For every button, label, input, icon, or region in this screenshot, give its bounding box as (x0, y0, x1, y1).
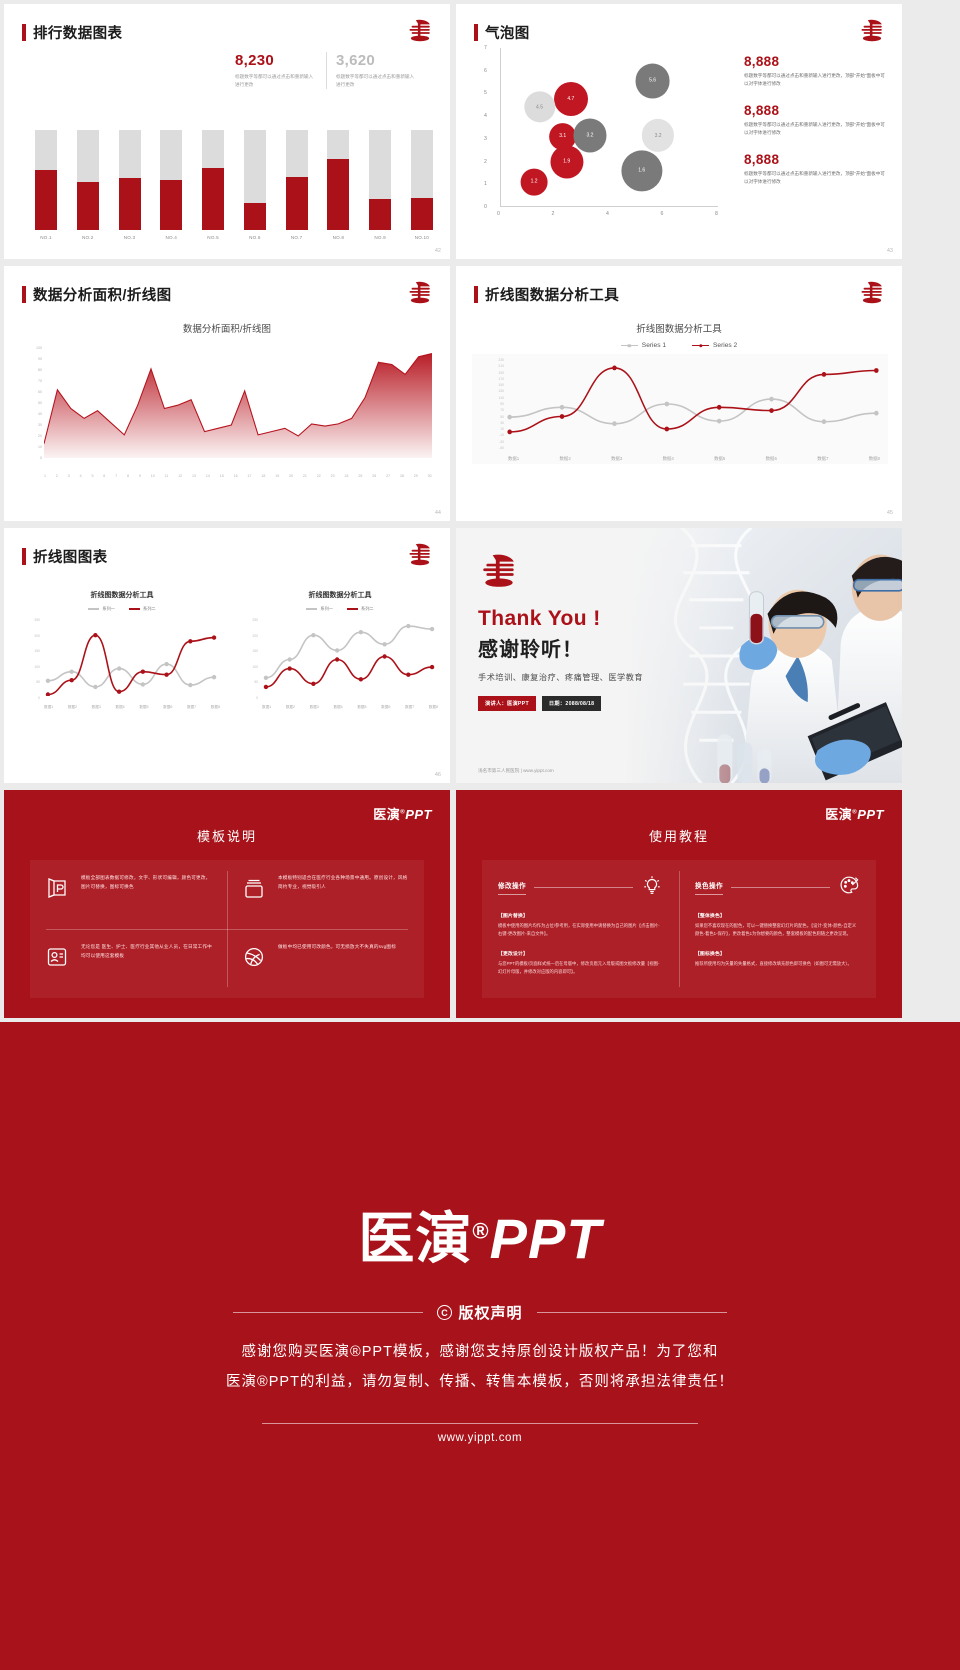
header-rule (731, 887, 830, 888)
mini-chart-title: 折线图数据分析工具 (22, 590, 222, 600)
y-tick: 0 (38, 696, 40, 700)
bar-track (286, 130, 308, 230)
slide-ranking-chart[interactable]: 排行数据图表 8,230 标题数字等都可以通过点击和重新输入进行更改 3,620… (4, 4, 450, 259)
y-tick: 100 (36, 346, 42, 350)
data-point (264, 676, 268, 680)
brand-logo-icon (858, 18, 886, 42)
x-tick: 20 (289, 474, 293, 478)
bubble-point: 3.2 (573, 119, 606, 152)
slide-bubble-chart[interactable]: 气泡图 01234567 02468 1.21.93.14.74.53.25.6… (456, 4, 902, 259)
data-point (665, 402, 670, 407)
copyright-body: 感谢您购买医演®PPT模板，感谢您支持原创设计版权产品！为了您和 医演®PPT的… (0, 1338, 960, 1397)
tutorial-panel: 修改操作 【图片替换】 模板中使用的图片均作为占位/参考用，在实际使用中请替换为… (482, 860, 876, 998)
x-category: 数据7 (405, 705, 414, 710)
data-point (188, 683, 192, 687)
brand-logo-icon (406, 18, 434, 42)
data-point (335, 648, 339, 652)
ranking-bar-chart: NO.1NO.2NO.3NO.4NO.5NO.6NO.7NO.8NO.9NO.1… (34, 122, 434, 240)
title-accent-bar (474, 24, 478, 41)
mini-chart-title: 折线图数据分析工具 (240, 590, 440, 600)
x-category: 数据7 (817, 456, 828, 462)
bar-label: NO.3 (124, 235, 136, 240)
bar-label: NO.6 (249, 235, 261, 240)
y-tick: 40 (38, 412, 42, 416)
bar-label: NO.2 (82, 235, 94, 240)
bubble-plot-area: 01234567 02468 1.21.93.14.74.53.25.63.21… (478, 48, 718, 223)
x-category: 数据4 (115, 705, 124, 710)
data-point (406, 624, 410, 628)
data-point (359, 630, 363, 634)
data-point (188, 639, 192, 643)
tutorial-block: 【图片替换】 模板中使用的图片均作为占位/参考用，在实际使用中请替换为自己的图片… (498, 912, 663, 939)
brand-cn: 医演 (373, 807, 400, 822)
data-point (46, 692, 50, 696)
y-tick: 100 (252, 665, 258, 669)
y-tick: 50 (38, 401, 42, 405)
x-category: 数据7 (187, 705, 196, 710)
note-item: 做板中均已使用可改颜色，可无损放大不失真的svg图标 (227, 929, 424, 998)
bubble-point: 5.6 (635, 63, 670, 98)
user-id-icon (44, 943, 70, 984)
copyright-bottom-rule (262, 1423, 698, 1424)
data-point (69, 670, 73, 674)
data-point (560, 405, 565, 410)
x-category: 数据2 (68, 705, 77, 710)
bubble-point: 4.5 (524, 91, 555, 122)
slide-title-lines: 折线图数据分析工具 (474, 284, 619, 305)
title-accent-bar (22, 548, 26, 565)
thank-you-text-block: Thank You ! 感谢聆听！ 手术培训、康复治疗、疼痛管理、医学教育 演讲… (478, 552, 737, 711)
y-tick: 20 (38, 434, 42, 438)
kpi-card-primary: 8,230 标题数字等都可以通过点击和重新输入进行更改 (226, 52, 326, 89)
data-point (335, 657, 339, 661)
copyright-url[interactable]: www.yippt.com (0, 1432, 960, 1444)
x-tick-labels: 1234567891011121314151617181920212223242… (44, 474, 432, 478)
block-body: 模板中使用的图片均作为占位/参考用，在实际使用中请替换为自己的图片【点击图片-右… (498, 922, 663, 939)
x-tick: 12 (178, 474, 182, 478)
y-tick: 30 (38, 423, 42, 427)
data-point (507, 415, 512, 420)
slide-title-ranking: 排行数据图表 (22, 22, 122, 43)
ppt-file-icon (44, 874, 70, 915)
copyright-icon: C (437, 1305, 452, 1320)
copyright-line-1: 感谢您购买医演®PPT模板，感谢您支持原创设计版权产品！为了您和 (0, 1338, 960, 1368)
x-category: 数据3 (92, 705, 101, 710)
x-category: 数据8 (429, 705, 438, 710)
x-category: 数据8 (869, 456, 880, 462)
brand-logo-icon (478, 552, 520, 588)
stat-desc: 标题数字等都可以通过点击和重新输入进行更改，顶部“开始”面板中可以对字体进行修改 (744, 121, 889, 138)
brand-ppt: PPT (490, 1207, 602, 1270)
bar-label: NO.10 (415, 235, 429, 240)
bubble-point: 1.6 (621, 150, 662, 191)
data-point (141, 670, 145, 674)
x-tick: 25 (358, 474, 362, 478)
block-title: 【图片替换】 (498, 912, 663, 919)
x-category: 数据4 (333, 705, 342, 710)
slide-template-notes[interactable]: 医演®PPT 模板说明 模板全部图表数据可修改，文字、形状可编辑，颜色可更改，图… (4, 790, 450, 1018)
bar-track (411, 130, 433, 230)
data-point (117, 690, 121, 694)
legend-item-series2: 系列二 (347, 606, 374, 612)
x-tick: 30 (428, 474, 432, 478)
y-tick-labels: 250200150100500 (240, 620, 258, 698)
data-point (665, 427, 670, 432)
data-point (382, 642, 386, 646)
bar-fill (77, 182, 99, 230)
x-tick: 13 (192, 474, 196, 478)
bar-track (160, 130, 182, 230)
mini-chart-left: 折线图数据分析工具 系列一 系列二 250200150100500 数据1数据2… (22, 590, 222, 740)
bar-label: NO.7 (291, 235, 303, 240)
legend-label: 系列二 (361, 606, 374, 612)
brand-logo-icon (858, 280, 886, 304)
legend-swatch (88, 608, 99, 609)
copyright-line-2: 医演®PPT的利益，请勿复制、传播、转售本模板，否则将承担法律责任！ (0, 1368, 960, 1398)
thank-you-tag-row: 演讲人：医演PPT 日期：2088/08/18 (478, 696, 737, 711)
x-tick: 22 (317, 474, 321, 478)
bubble-stat-item: 8,888 标题数字等都可以通过点击和重新输入进行更改，顶部“开始”面板中可以对… (744, 54, 889, 89)
x-category-labels: 数据1数据2数据3数据4数据5数据6数据7数据8 (262, 705, 438, 710)
bar-column: NO.9 (368, 130, 392, 240)
brand-wordmark: 医演®PPT (373, 804, 432, 823)
y-tick: 60 (38, 390, 42, 394)
bar-column: NO.7 (285, 130, 309, 240)
x-tick: 1 (44, 474, 46, 478)
column-heading: 修改操作 (498, 880, 526, 895)
lightbulb-icon (641, 874, 663, 901)
page-number: 42 (435, 248, 441, 254)
data-point (212, 635, 216, 639)
page-number: 45 (887, 510, 893, 516)
kpi-group: 8,230 标题数字等都可以通过点击和重新输入进行更改 3,620 标题数字等都… (226, 52, 426, 89)
thank-you-canvas: Thank You ! 感谢聆听！ 手术培训、康复治疗、疼痛管理、医学教育 演讲… (456, 528, 902, 783)
bar-fill (119, 178, 141, 230)
section-title: 模板说明 (4, 826, 450, 845)
area-series (44, 348, 432, 458)
stat-value: 8,888 (744, 54, 889, 69)
x-category: 数据6 (766, 456, 777, 462)
column-header: 换色操作 (695, 874, 860, 901)
x-tick: 14 (206, 474, 210, 478)
data-point (359, 677, 363, 681)
legend-item-series2: 系列二 (129, 606, 156, 612)
x-category: 数据1 (262, 705, 271, 710)
bar-fill (244, 203, 266, 230)
x-tick: 11 (165, 474, 169, 478)
y-tick-labels: 250200150100500 (22, 620, 40, 698)
legend-swatch (306, 608, 317, 609)
note-item: 无论您是 医生、护士、医疗行业其他从业人员，在日常工作中均可以使用这套模板 (30, 929, 227, 998)
x-tick: 16 (234, 474, 238, 478)
x-tick: 6 (103, 474, 105, 478)
x-category: 数据1 (508, 456, 519, 462)
bar-fill (202, 168, 224, 230)
kpi-desc: 标题数字等都可以通过点击和重新输入进行更改 (235, 73, 317, 89)
chart-title: 数据分析面积/折线图 (4, 321, 450, 335)
bar-label: NO.1 (40, 235, 52, 240)
data-point (311, 633, 315, 637)
mini-line-series (260, 620, 438, 696)
note-text: 本模板特别适合在医疗行业各种场景中通用。原创设计，风格简约专业，视觉吸引人 (278, 874, 410, 915)
note-text: 无论您是 医生、护士、医疗行业其他从业人员，在日常工作中均可以使用这套模板 (81, 943, 213, 984)
data-point (311, 682, 315, 686)
x-tick: 7 (115, 474, 117, 478)
x-tick: 2 (56, 474, 58, 478)
slide-thank-you[interactable]: Thank You ! 感谢聆听！ 手术培训、康复治疗、疼痛管理、医学教育 演讲… (456, 528, 902, 783)
data-point (212, 675, 216, 679)
y-tick: 0 (256, 696, 258, 700)
statement-text: 版权声明 (458, 1302, 522, 1323)
x-tick: 8 (127, 474, 129, 478)
block-title: 【整体换色】 (695, 912, 860, 919)
data-point (164, 673, 168, 677)
legend-item-series1: 系列一 (88, 606, 115, 612)
mini-legend: 系列一 系列二 (240, 606, 440, 612)
data-point (430, 665, 434, 669)
page-number: 43 (887, 248, 893, 254)
block-body: 推荐所使用均为矢量的失量格式，直接修改填充颜色即可换色（如图可无需放大）。 (695, 960, 860, 968)
section-title: 使用教程 (456, 826, 902, 845)
note-text: 做板中均已使用可改颜色，可无损放大不失真的svg图标 (278, 943, 396, 984)
stat-desc: 标题数字等都可以通过点击和重新输入进行更改，顶部“开始”面板中可以对字体进行修改 (744, 72, 889, 89)
brand-logo-icon (406, 280, 434, 304)
data-point (264, 685, 268, 689)
page-number: 46 (435, 772, 441, 778)
mini-chart-right: 折线图数据分析工具 系列一 系列二 250200150100500 数据1数据2… (240, 590, 440, 740)
copyright-divider: C 版权声明 (0, 1302, 960, 1323)
slide-mini-line-charts[interactable]: 折线图图表 折线图数据分析工具 系列一 系列二 (4, 528, 450, 783)
copyright-statement-label: C 版权声明 (437, 1302, 522, 1323)
block-title: 【图标换色】 (695, 950, 860, 957)
divider-line-left (233, 1312, 423, 1313)
data-point (874, 368, 879, 373)
data-point (287, 666, 291, 670)
brand-cn: 医演 (358, 1207, 472, 1270)
bar-track (119, 130, 141, 230)
bar-fill (286, 177, 308, 230)
thank-you-headline-en: Thank You ! (478, 607, 737, 631)
legend-swatch (347, 608, 358, 609)
bubble-point: 1.2 (521, 169, 548, 196)
x-tick: 23 (331, 474, 335, 478)
y-tick: 10 (38, 445, 42, 449)
x-category: 数据3 (611, 456, 622, 462)
x-tick: 27 (386, 474, 390, 478)
slide-title-area: 数据分析面积/折线图 (22, 284, 172, 305)
title-accent-bar (22, 286, 26, 303)
x-category: 数据5 (357, 705, 366, 710)
bar-column: NO.1 (34, 130, 58, 240)
x-tick: 26 (372, 474, 376, 478)
bar-label: NO.5 (207, 235, 219, 240)
bar-column: NO.6 (243, 130, 267, 240)
y-tick: 50 (36, 680, 40, 684)
data-point (507, 430, 512, 435)
bar-column: NO.5 (201, 130, 225, 240)
box-icon (241, 874, 267, 915)
x-category: 数据5 (139, 705, 148, 710)
y-tick: 250 (252, 618, 258, 622)
kpi-desc: 标题数字等都可以通过点击和重新输入进行更改 (336, 73, 417, 89)
x-tick: 19 (275, 474, 279, 478)
bar-fill (160, 180, 182, 230)
bar-track (35, 130, 57, 230)
tutorial-column-recolor: 换色操作 【整体换色】 如果您不喜欢现在的配色，可以一键替换整套幻灯片的配色。【… (679, 860, 876, 998)
bar-label: NO.4 (166, 235, 178, 240)
data-point (612, 366, 617, 371)
kpi-value: 3,620 (336, 52, 417, 69)
mini-plot: 250200150100500 数据1数据2数据3数据4数据5数据6数据7数据8 (240, 616, 440, 712)
note-item: 本模板特别适合在医疗行业各种场景中通用。原创设计，风格简约专业，视觉吸引人 (227, 860, 424, 929)
notes-panel: 模板全部图表数据可修改，文字、形状可编辑，颜色可更改，图片可替换，图标可换色 本… (30, 860, 424, 998)
line-plot: 2302101901701501301109070503010-10-30-50… (472, 354, 888, 464)
data-point (560, 414, 565, 419)
bar-track (327, 130, 349, 230)
y-tick: 70 (38, 379, 42, 383)
chart-legend: Series 1 Series 2 (456, 342, 902, 349)
data-point (430, 627, 434, 631)
brand-wordmark-large: 医演®PPT (0, 1194, 960, 1275)
area-plot: 0102030405060708090100 12345678910111213… (26, 348, 432, 478)
legend-swatch (692, 345, 709, 347)
speaker-tag: 演讲人：医演PPT (478, 696, 536, 711)
x-tick: 10 (151, 474, 155, 478)
x-category: 数据2 (560, 456, 571, 462)
y-tick-labels: 0102030405060708090100 (26, 348, 42, 458)
bar-column: NO.8 (326, 130, 350, 240)
slide-tutorial[interactable]: 医演®PPT 使用教程 修改操作 【图片替换】 (456, 790, 902, 1018)
legend-label: 系列一 (102, 606, 115, 612)
bar-column: NO.4 (159, 130, 183, 240)
data-point (717, 419, 722, 424)
brand-cn: 医演 (825, 807, 852, 822)
header-rule (534, 887, 633, 888)
y-tick: 0 (40, 456, 42, 460)
x-tick: 5 (91, 474, 93, 478)
note-text: 模板全部图表数据可修改，文字、形状可编辑，颜色可更改，图片可替换，图标可换色 (81, 874, 213, 915)
legend-label: 系列二 (143, 606, 156, 612)
x-tick: 29 (414, 474, 418, 478)
x-tick: 9 (139, 474, 141, 478)
mini-legend: 系列一 系列二 (22, 606, 222, 612)
slide-line-chart-tool[interactable]: 折线图数据分析工具 折线图数据分析工具 Series 1 Series 2 23… (456, 266, 902, 521)
data-point (93, 633, 97, 637)
data-point (612, 421, 617, 426)
bubble-stat-item: 8,888 标题数字等都可以通过点击和重新输入进行更改，顶部“开始”面板中可以对… (744, 152, 889, 187)
y-tick: 100 (34, 665, 40, 669)
x-tick: 3 (68, 474, 70, 478)
bubble-stat-item: 8,888 标题数字等都可以通过点击和重新输入进行更改，顶部“开始”面板中可以对… (744, 103, 889, 138)
chart-title: 折线图数据分析工具 (456, 321, 902, 335)
tutorial-block: 【图标换色】 推荐所使用均为矢量的失量格式，直接修改填充颜色即可换色（如图可无需… (695, 950, 860, 968)
y-tick: 150 (34, 649, 40, 653)
y-tick: 200 (252, 634, 258, 638)
x-category: 数据6 (381, 705, 390, 710)
brand-wordmark: 医演®PPT (825, 804, 884, 823)
stat-value: 8,888 (744, 103, 889, 118)
data-point (46, 679, 50, 683)
note-item: 模板全部图表数据可修改，文字、形状可编辑，颜色可更改，图片可替换，图标可换色 (30, 860, 227, 929)
bar-label: NO.8 (333, 235, 345, 240)
bar-track (244, 130, 266, 230)
x-tick: 28 (400, 474, 404, 478)
x-category: 数据1 (44, 705, 53, 710)
slide-title-bubble: 气泡图 (474, 22, 530, 43)
bar-column: NO.3 (118, 130, 142, 240)
data-point (141, 682, 145, 686)
y-tick: 90 (38, 357, 42, 361)
legend-label: Series 2 (713, 342, 737, 349)
title-accent-bar (474, 286, 478, 303)
block-body: 与您PPT的模板/页面样式统一后在母版中，修改页眉元入母版或图文板修改量【视图-… (498, 960, 663, 977)
data-point (769, 408, 774, 413)
block-body: 如果您不喜欢现在的配色，可以一键替换整套幻灯片的配色。【设计-变体-颜色-自定义… (695, 922, 860, 939)
page-number: 44 (435, 510, 441, 516)
data-point (406, 673, 410, 677)
legend-item-series1: Series 1 (621, 342, 666, 349)
data-point (874, 411, 879, 416)
x-category: 数据2 (286, 705, 295, 710)
y-tick: 50 (254, 680, 258, 684)
y-tick: 80 (38, 368, 42, 372)
bar-column: NO.2 (76, 130, 100, 240)
bar-track (202, 130, 224, 230)
legend-item-series2: Series 2 (692, 342, 737, 349)
x-tick: 4 (80, 474, 82, 478)
tutorial-column-edit: 修改操作 【图片替换】 模板中使用的图片均作为占位/参考用，在实际使用中请替换为… (482, 860, 679, 998)
legend-swatch (129, 608, 140, 609)
mini-plot: 250200150100500 数据1数据2数据3数据4数据5数据6数据7数据8 (22, 616, 222, 712)
x-tick: 15 (220, 474, 224, 478)
divider-line-right (537, 1312, 727, 1313)
area-fill (44, 354, 432, 459)
palette-icon (838, 874, 860, 901)
bubble-point: 3.1 (549, 123, 577, 151)
x-category: 数据8 (211, 705, 220, 710)
legend-label: 系列一 (320, 606, 333, 612)
x-tick: 21 (303, 474, 307, 478)
data-point (769, 397, 774, 402)
column-header: 修改操作 (498, 874, 663, 901)
legend-item-series1: 系列一 (306, 606, 333, 612)
y-tick: 250 (34, 618, 40, 622)
block-title: 【更改设计】 (498, 950, 663, 957)
kpi-card-secondary: 3,620 标题数字等都可以通过点击和重新输入进行更改 (326, 52, 426, 89)
slide-deck-overview: 排行数据图表 8,230 标题数字等都可以通过点击和重新输入进行更改 3,620… (0, 0, 960, 1670)
column-heading: 换色操作 (695, 880, 723, 895)
title-accent-bar (22, 24, 26, 41)
mini-line-series (42, 620, 220, 696)
brand-registered-mark: ® (472, 1218, 489, 1243)
x-category-labels: 数据1数据2数据3数据4数据5数据6数据7数据8 (508, 456, 880, 462)
data-point (117, 666, 121, 670)
data-point (717, 405, 722, 410)
bar-fill (369, 199, 391, 230)
bar-fill (35, 170, 57, 230)
data-point (382, 654, 386, 658)
slide-area-chart[interactable]: 数据分析面积/折线图 数据分析面积/折线图 010203040506070809… (4, 266, 450, 521)
legend-swatch (621, 345, 638, 347)
brand-ppt: PPT (857, 807, 884, 822)
thank-you-headline-cn: 感谢聆听！ (478, 633, 737, 662)
data-point (822, 419, 827, 424)
stat-value: 8,888 (744, 152, 889, 167)
y-tick-labels: 2302101901701501301109070503010-10-30-50 (478, 360, 504, 448)
bar-fill (327, 159, 349, 230)
thank-you-footer: 浅名市第三人民医院 | www.yippt.com (478, 768, 554, 774)
bubble-point: 3.2 (642, 119, 674, 151)
